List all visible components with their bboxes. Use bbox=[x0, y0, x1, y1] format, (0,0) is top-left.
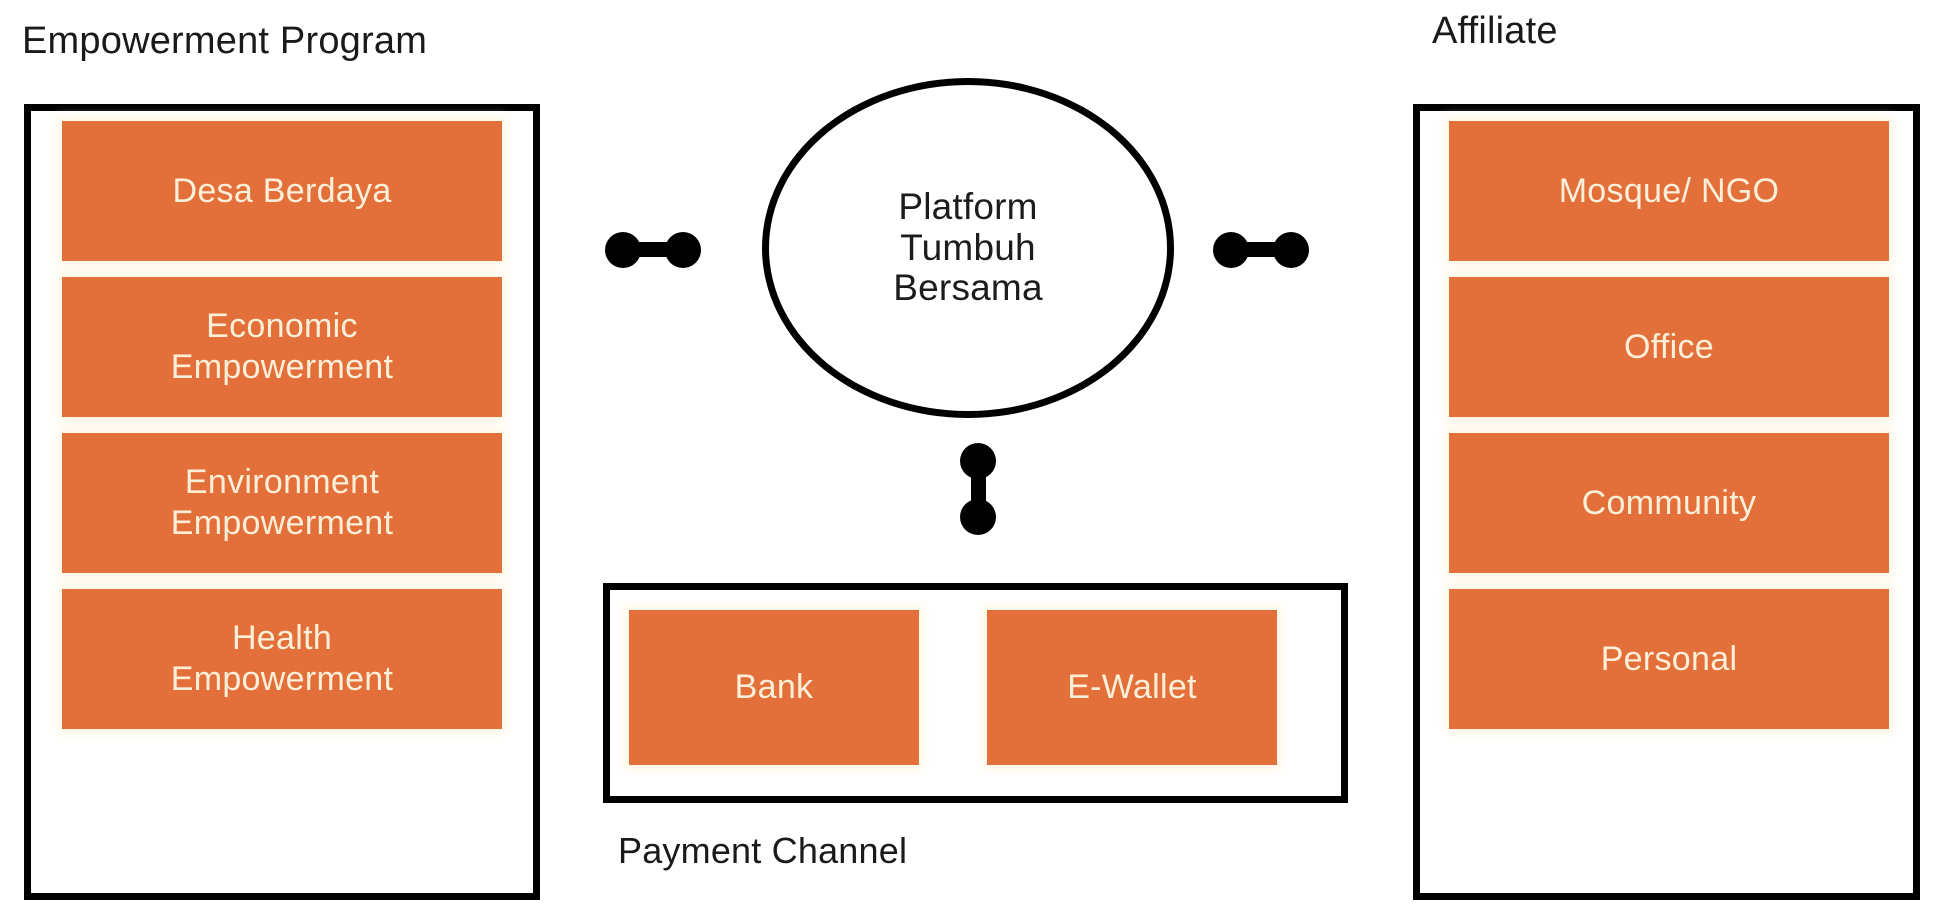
diagram-canvas: Empowerment Program Desa Berdaya Economi… bbox=[0, 0, 1940, 918]
payment-channel-title: Payment Channel bbox=[618, 833, 907, 869]
card-office[interactable]: Office bbox=[1449, 277, 1889, 417]
card-e-wallet-label: E-Wallet bbox=[1067, 667, 1197, 708]
card-community[interactable]: Community bbox=[1449, 433, 1889, 573]
card-personal-label: Personal bbox=[1601, 639, 1738, 680]
card-e-wallet[interactable]: E-Wallet bbox=[987, 610, 1277, 765]
card-mosque-ngo[interactable]: Mosque/ NGO bbox=[1449, 121, 1889, 261]
card-economic-empowerment-label: Economic Empowerment bbox=[171, 306, 394, 388]
card-bank[interactable]: Bank bbox=[629, 610, 919, 765]
payment-channel-panel: Bank E-Wallet bbox=[603, 583, 1348, 803]
card-mosque-ngo-label: Mosque/ NGO bbox=[1559, 171, 1780, 212]
affiliate-panel: Mosque/ NGO Office Community Personal bbox=[1413, 104, 1920, 900]
connector-dot-end bbox=[960, 499, 996, 535]
card-environment-empowerment-label: Environment Empowerment bbox=[171, 462, 394, 544]
card-economic-empowerment[interactable]: Economic Empowerment bbox=[62, 277, 502, 417]
card-desa-berdaya-label: Desa Berdaya bbox=[172, 171, 391, 212]
card-office-label: Office bbox=[1624, 327, 1714, 368]
platform-tumbuh-bersama-label: Platform Tumbuh Bersama bbox=[893, 187, 1042, 309]
connector-dot-end bbox=[665, 232, 701, 268]
connector-dot-end bbox=[1273, 232, 1309, 268]
card-health-empowerment[interactable]: Health Empowerment bbox=[62, 589, 502, 729]
empowerment-program-title: Empowerment Program bbox=[22, 22, 427, 60]
card-personal[interactable]: Personal bbox=[1449, 589, 1889, 729]
affiliate-title: Affiliate bbox=[1432, 12, 1558, 50]
platform-tumbuh-bersama-node[interactable]: Platform Tumbuh Bersama bbox=[762, 78, 1174, 418]
connector-platform-to-affiliate bbox=[1213, 229, 1309, 271]
connector-platform-to-payment bbox=[960, 443, 996, 535]
card-desa-berdaya[interactable]: Desa Berdaya bbox=[62, 121, 502, 261]
card-environment-empowerment[interactable]: Environment Empowerment bbox=[62, 433, 502, 573]
card-health-empowerment-label: Health Empowerment bbox=[171, 618, 394, 700]
card-community-label: Community bbox=[1582, 483, 1757, 524]
card-bank-label: Bank bbox=[735, 667, 814, 708]
empowerment-program-panel: Desa Berdaya Economic Empowerment Enviro… bbox=[24, 104, 540, 900]
connector-empowerment-to-platform bbox=[605, 229, 701, 271]
